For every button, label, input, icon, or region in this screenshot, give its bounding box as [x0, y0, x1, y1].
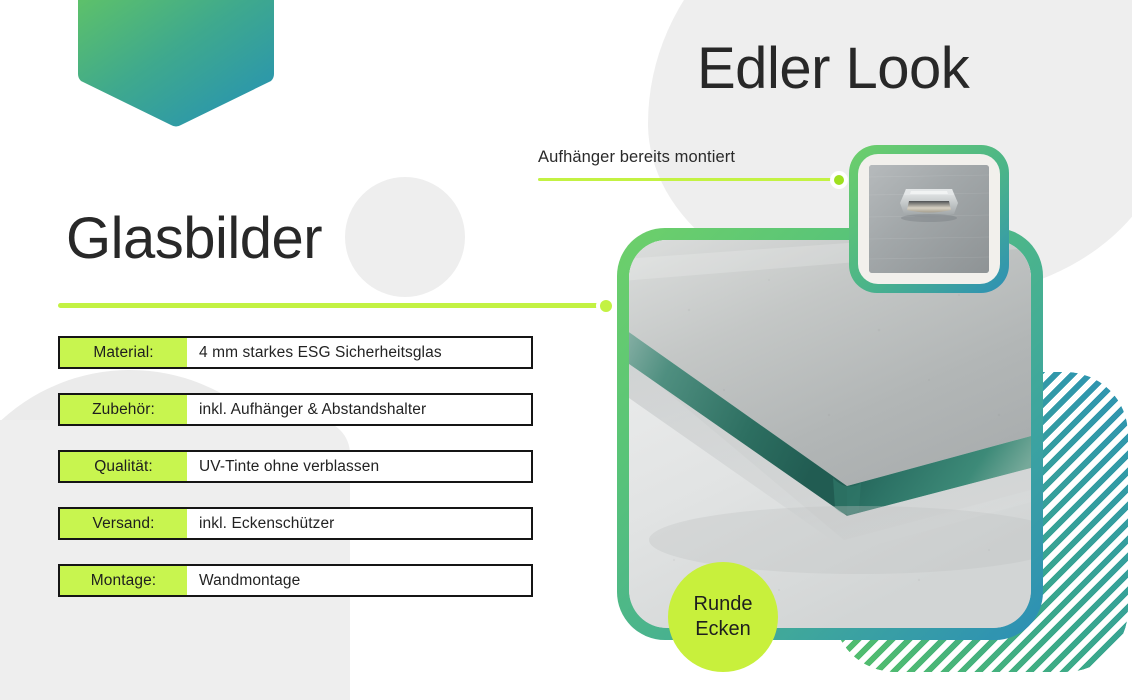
- table-row: Versand: inkl. Eckenschützer: [58, 507, 533, 540]
- wall-hanger-bracket-photo: [869, 165, 989, 273]
- connector-line-segment: [58, 303, 606, 308]
- section-title-edler-look: Edler Look: [697, 35, 969, 102]
- spec-value: 4 mm starkes ESG Sicherheitsglas: [187, 338, 531, 367]
- spec-key: Zubehör:: [60, 395, 187, 424]
- spec-key: Versand:: [60, 509, 187, 538]
- background-circle-accent: [345, 177, 465, 297]
- spec-key: Montage:: [60, 566, 187, 595]
- connector-line-main: [58, 296, 628, 316]
- spec-value: UV-Tinte ohne verblassen: [187, 452, 531, 481]
- shield-pentagon-logo-icon: [78, 0, 274, 130]
- table-row: Montage: Wandmontage: [58, 564, 533, 597]
- spec-value: inkl. Eckenschützer: [187, 509, 531, 538]
- table-row: Qualität: UV-Tinte ohne verblassen: [58, 450, 533, 483]
- spec-value: Wandmontage: [187, 566, 531, 595]
- glass-panel-corner-photo: [629, 240, 1031, 628]
- callout-hanger: Aufhänger bereits montiert: [536, 148, 856, 167]
- page-title: Glasbilder: [66, 205, 322, 272]
- table-row: Zubehör: inkl. Aufhänger & Abstandshalte…: [58, 393, 533, 426]
- spec-key: Material:: [60, 338, 187, 367]
- inset-photo-frame: [849, 145, 1009, 293]
- connector-dot: [600, 300, 612, 312]
- table-row: Material: 4 mm starkes ESG Sicherheitsgl…: [58, 336, 533, 369]
- infographic-canvas: Glasbilder Edler Look Aufhänger bereits …: [0, 0, 1132, 700]
- callout-hanger-line: [538, 178, 838, 181]
- badge-line-1: Runde: [694, 592, 753, 617]
- spec-list: Material: 4 mm starkes ESG Sicherheitsgl…: [58, 336, 533, 621]
- spec-key: Qualität:: [60, 452, 187, 481]
- callout-hanger-label: Aufhänger bereits montiert: [536, 148, 856, 167]
- callout-hanger-dot: [834, 175, 844, 185]
- badge-line-2: Ecken: [695, 617, 751, 642]
- badge-runde-ecken: Runde Ecken: [668, 562, 778, 672]
- inset-photo-matte: [858, 154, 1000, 284]
- spec-value: inkl. Aufhänger & Abstandshalter: [187, 395, 531, 424]
